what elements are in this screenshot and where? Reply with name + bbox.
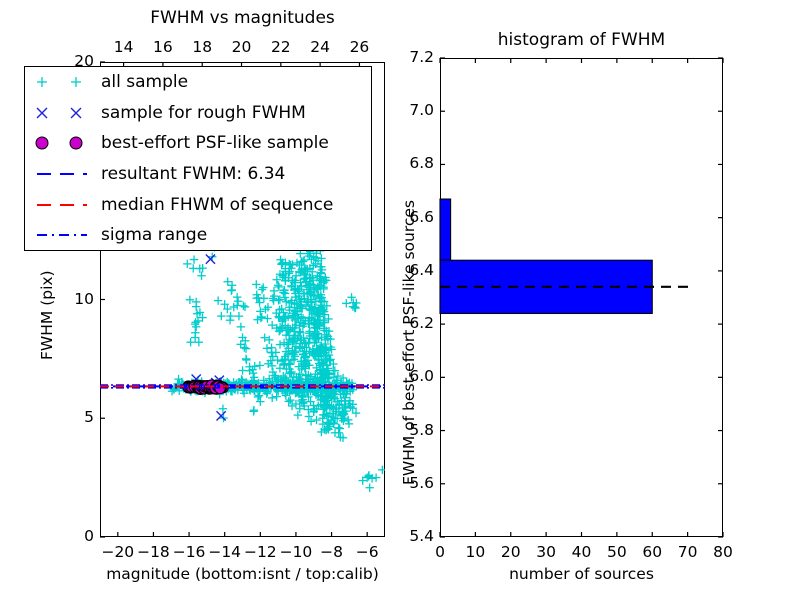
- legend-dashed-icon: [29, 192, 97, 218]
- legend-entry: all sample: [25, 67, 371, 98]
- legend-label: resultant FWHM: 6.34: [101, 164, 285, 184]
- legend-entry: sample for rough FWHM: [25, 98, 371, 129]
- legend-label: sigma range: [101, 225, 207, 245]
- right-x-tick-label: 40: [562, 543, 602, 561]
- legend-entry: sigma range: [25, 220, 371, 251]
- legend-entry: best-effort PSF-like sample: [25, 128, 371, 159]
- right-x-tick-label: 80: [703, 543, 743, 561]
- right-panel-title: histogram of FWHM: [440, 30, 723, 50]
- right-x-tick-label: 10: [455, 543, 495, 561]
- legend-entry: resultant FWHM: 6.34: [25, 159, 371, 190]
- right-x-tick-label: 30: [526, 543, 566, 561]
- legend-cross-icon: [29, 100, 97, 126]
- right-y-tick-label: 7.0: [392, 101, 434, 119]
- right-x-tick-label: 20: [491, 543, 531, 561]
- right-x-tick-label: 60: [632, 543, 672, 561]
- right-y-axis-label: FWHM of best-effort PSF-like sources: [400, 200, 418, 485]
- legend-label: all sample: [101, 72, 188, 92]
- right-x-axis-label: number of sources: [440, 565, 723, 583]
- legend-plus-icon: [29, 69, 97, 95]
- legend-entry: median FHWM of sequence: [25, 189, 371, 220]
- right-plot-frame: [440, 58, 723, 537]
- legend-label: median FHWM of sequence: [101, 195, 333, 215]
- right-x-tick-label: 50: [597, 543, 637, 561]
- matplotlib-figure: FWHM vs magnitudes −20−18−16−14−12−10−8−…: [0, 0, 800, 600]
- right-y-tick-label: 7.2: [392, 48, 434, 66]
- right-y-tick-label: 6.8: [392, 154, 434, 172]
- legend-label: sample for rough FWHM: [101, 103, 306, 123]
- right-x-tick-label: 70: [668, 543, 708, 561]
- legend-dashdot-icon: [29, 222, 97, 248]
- legend-dashed-icon: [29, 161, 97, 187]
- right-y-tick-label: 5.4: [392, 527, 434, 545]
- plot-legend: all samplesample for rough FWHMbest-effo…: [24, 66, 372, 251]
- legend-label: best-effort PSF-like sample: [101, 133, 329, 153]
- legend-circle-icon: [29, 130, 97, 156]
- right-x-tick-label: 0: [420, 543, 460, 561]
